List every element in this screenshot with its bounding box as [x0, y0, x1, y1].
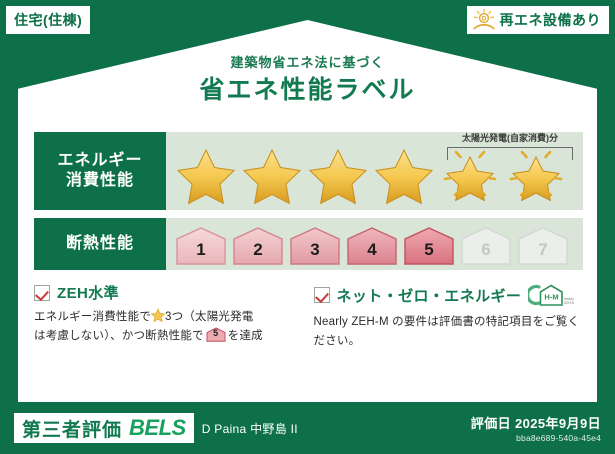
energy-performance-row: エネルギー 消費性能 太陽光発電(自家消費)分	[34, 132, 583, 210]
renewable-equipment-label: 再エネ設備あり	[500, 10, 602, 30]
star-item	[240, 143, 304, 205]
bels-jp-label: 第三者評価	[22, 415, 122, 442]
net-zero-energy-panel: ネット・ゼロ・エネルギー H-M Nearly ZEH-M Nearly ZEH…	[314, 282, 584, 364]
star-item	[372, 143, 436, 205]
insulation-step: 4	[345, 226, 399, 266]
evaluation-date: 評価日 2025年9月9日	[471, 413, 601, 432]
building-type-label: 住宅(住棟)	[14, 10, 82, 30]
insulation-step-value: 3	[310, 240, 319, 266]
insulation-step-value: 1	[196, 240, 205, 266]
insulation-step-track: 1 2 3	[166, 218, 583, 270]
insulation-step-value: 5	[424, 240, 433, 266]
zeh-standard-checkbox-icon	[34, 285, 50, 301]
insulation-step-list: 1 2 3	[166, 226, 583, 270]
zeh-standard-body: エネルギー消費性能で 3つ（太陽光発電 は考慮しない）、かつ断熱性能で 5 を達…	[34, 308, 304, 345]
insulation-step-inactive: 6	[459, 226, 513, 266]
inline-house-icon: 5	[206, 327, 226, 342]
insulation-performance-row: 断熱性能 1	[34, 218, 583, 270]
energy-star-track: 太陽光発電(自家消費)分	[166, 132, 583, 210]
footer-meta: 評価日 2025年9月9日 bba8e689-540a-45e4	[471, 413, 601, 443]
zeh-standard-title: ZEH水準	[57, 282, 119, 303]
zeh-standard-header: ZEH水準	[34, 282, 304, 303]
energy-label-line1: エネルギー	[57, 151, 142, 171]
label-main-title: 省エネ性能ラベル	[18, 70, 597, 106]
insulation-step: 3	[288, 226, 342, 266]
info-panels: ZEH水準 エネルギー消費性能で 3つ（太陽光発電 は考慮しない）、かつ断熱性能…	[34, 282, 583, 364]
star-item	[174, 143, 238, 205]
insulation-step-value: 6	[481, 240, 490, 266]
sun-over-house-icon: D	[471, 8, 497, 32]
svg-text:D: D	[481, 17, 486, 23]
insulation-step: 2	[231, 226, 285, 266]
footer: 第三者評価 BELS D Paina 中野島 II 評価日 2025年9月9日 …	[0, 402, 615, 454]
zeh-body-part-1: エネルギー消費性能で	[34, 311, 151, 323]
insulation-step-value: 7	[538, 240, 547, 266]
insulation-label: 断熱性能	[66, 234, 134, 254]
zeh-body-part-2: は考慮しない）、かつ断熱性能で	[34, 330, 204, 342]
energy-performance-label: 住宅(住棟) D 再エネ設備あり 建築物省エネ法に基づく 省エネ性能ラベル	[0, 0, 615, 454]
net-zero-body: Nearly ZEH-M の要件は評価書の特記項目をご覧ください。	[314, 313, 584, 350]
star-item-solar	[504, 143, 568, 205]
net-zero-energy-header: ネット・ゼロ・エネルギー H-M Nearly ZEH-M	[314, 282, 584, 308]
zeh-body-part-3: を達成	[228, 330, 263, 342]
building-name: D Paina 中野島 II	[202, 420, 298, 437]
renewable-equipment-tag: D 再エネ設備あり	[467, 6, 610, 34]
bels-en-label: BELS	[129, 415, 186, 441]
net-zero-title: ネット・ゼロ・エネルギー	[337, 285, 522, 306]
energy-label-line2: 消費性能	[66, 171, 134, 191]
insulation-step-achieved: 5	[402, 226, 456, 266]
inline-star-icon	[151, 308, 165, 322]
energy-star-list	[166, 143, 583, 210]
label-subtitle: 建築物省エネ法に基づく	[18, 52, 597, 71]
zeh-standard-panel: ZEH水準 エネルギー消費性能で 3つ（太陽光発電 は考慮しない）、かつ断熱性能…	[34, 282, 304, 364]
zeh-body-star-count: 3つ（太陽光発電	[165, 311, 254, 323]
building-type-tag: 住宅(住棟)	[6, 6, 90, 34]
net-zero-checkbox-icon	[314, 287, 330, 303]
star-item-solar	[438, 143, 502, 205]
energy-performance-label-box: エネルギー 消費性能	[34, 132, 166, 210]
star-item	[306, 143, 370, 205]
svg-text:ZEH-M: ZEH-M	[564, 301, 574, 305]
insulation-performance-label-box: 断熱性能	[34, 218, 166, 270]
evaluation-id: bba8e689-540a-45e4	[471, 433, 601, 443]
bels-badge: 第三者評価 BELS	[14, 413, 194, 443]
insulation-step: 1	[174, 226, 228, 266]
insulation-step-inactive: 7	[516, 226, 570, 266]
insulation-step-value: 2	[253, 240, 262, 266]
insulation-step-value: 4	[367, 240, 376, 266]
svg-text:H-M: H-M	[545, 293, 559, 302]
zeh-m-logo-icon: H-M Nearly ZEH-M	[528, 282, 574, 308]
inline-house-value: 5	[206, 326, 226, 341]
